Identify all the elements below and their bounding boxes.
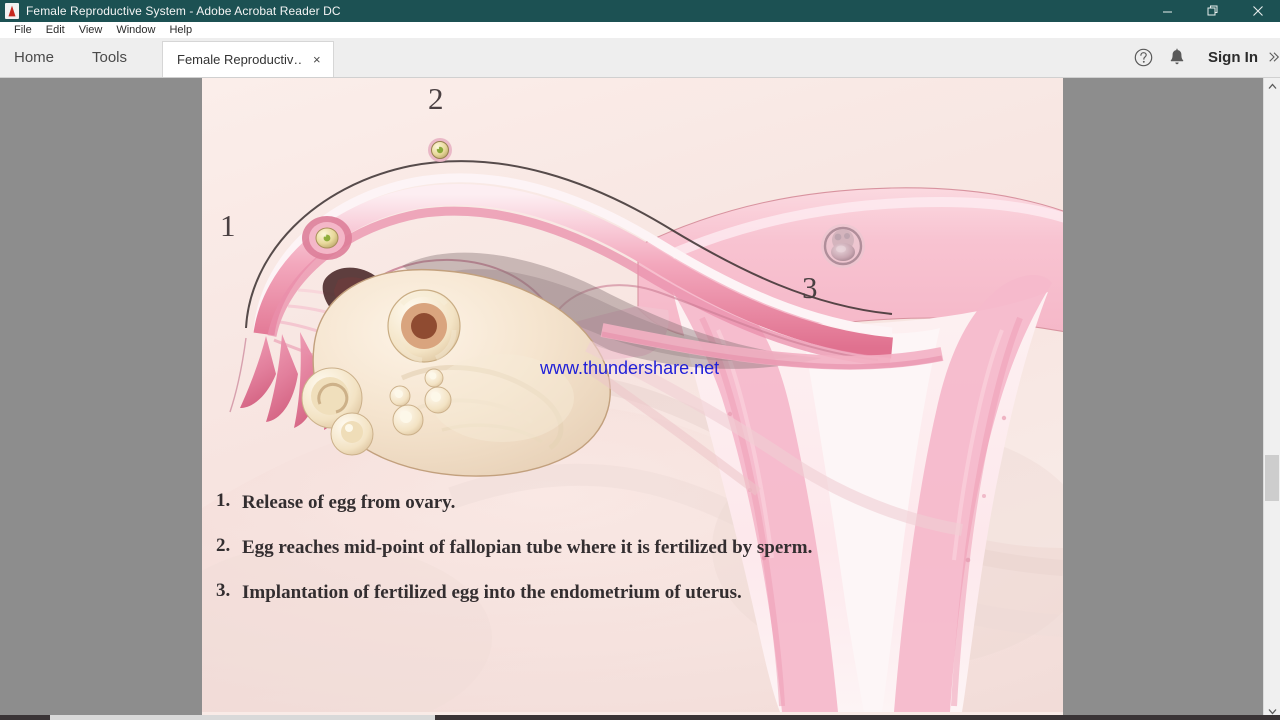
window-controls — [1145, 0, 1280, 22]
menubar: File Edit View Window Help — [0, 22, 1280, 38]
menu-view[interactable]: View — [72, 22, 110, 38]
tools-tab[interactable]: Tools — [92, 37, 138, 77]
ovulation-egg-release — [302, 216, 352, 260]
bell-icon[interactable] — [1160, 37, 1194, 77]
implanted-blastocyst — [821, 224, 865, 268]
fertilized-egg-in-tube — [428, 138, 452, 162]
scroll-up-icon[interactable] — [1264, 78, 1280, 95]
menu-edit[interactable]: Edit — [39, 22, 72, 38]
caption-text: Egg reaches mid-point of fallopian tube … — [242, 535, 812, 561]
sign-in-button[interactable]: Sign In — [1194, 37, 1268, 77]
menu-help[interactable]: Help — [162, 22, 199, 38]
callout-number-3: 3 — [802, 270, 818, 306]
menu-window[interactable]: Window — [109, 22, 162, 38]
minimize-button[interactable] — [1145, 0, 1190, 22]
caption-list: 1. Release of egg from ovary. 2. Egg rea… — [216, 490, 816, 626]
caption-item-3: 3. Implantation of fertilized egg into t… — [216, 580, 816, 606]
corpus-luteum — [388, 290, 460, 362]
restore-button[interactable] — [1190, 0, 1235, 22]
horizontal-scrollbar[interactable] — [0, 715, 1280, 720]
document-tab[interactable]: Female Reproductiv… × — [162, 41, 334, 77]
acrobat-pdf-icon — [5, 3, 19, 19]
callout-number-2: 2 — [428, 81, 444, 117]
watermark-text: www.thundershare.net — [540, 358, 719, 379]
question-circle-icon[interactable] — [1126, 37, 1160, 77]
vertical-scrollbar[interactable] — [1263, 78, 1280, 720]
window-title: Female Reproductive System - Adobe Acrob… — [26, 0, 341, 22]
caption-item-2: 2. Egg reaches mid-point of fallopian tu… — [216, 535, 816, 561]
home-tab[interactable]: Home — [14, 37, 64, 77]
close-button[interactable] — [1235, 0, 1280, 22]
callout-number-1: 1 — [220, 208, 236, 244]
caption-number: 1. — [216, 490, 242, 516]
toolbar-right-group: Sign In — [1126, 37, 1280, 77]
chevron-double-right-icon[interactable] — [1268, 37, 1280, 77]
caption-number: 2. — [216, 535, 242, 561]
caption-text: Release of egg from ovary. — [242, 490, 455, 516]
document-viewer[interactable]: 1 2 3 www.thundershare.net 1. Release of… — [0, 78, 1280, 720]
vertical-scrollbar-thumb[interactable] — [1265, 455, 1279, 501]
caption-item-1: 1. Release of egg from ovary. — [216, 490, 816, 516]
pdf-page[interactable]: 1 2 3 www.thundershare.net 1. Release of… — [202, 78, 1063, 712]
document-tab-label: Female Reproductiv… — [177, 52, 301, 67]
window-titlebar: Female Reproductive System - Adobe Acrob… — [0, 0, 1280, 22]
menu-file[interactable]: File — [7, 22, 39, 38]
toolbar-tabstrip: Home Tools Female Reproductiv… × Sign In — [0, 38, 1280, 78]
horizontal-scrollbar-thumb[interactable] — [50, 715, 435, 720]
caption-number: 3. — [216, 580, 242, 606]
caption-text: Implantation of fertilized egg into the … — [242, 580, 742, 606]
close-icon[interactable]: × — [310, 51, 324, 68]
